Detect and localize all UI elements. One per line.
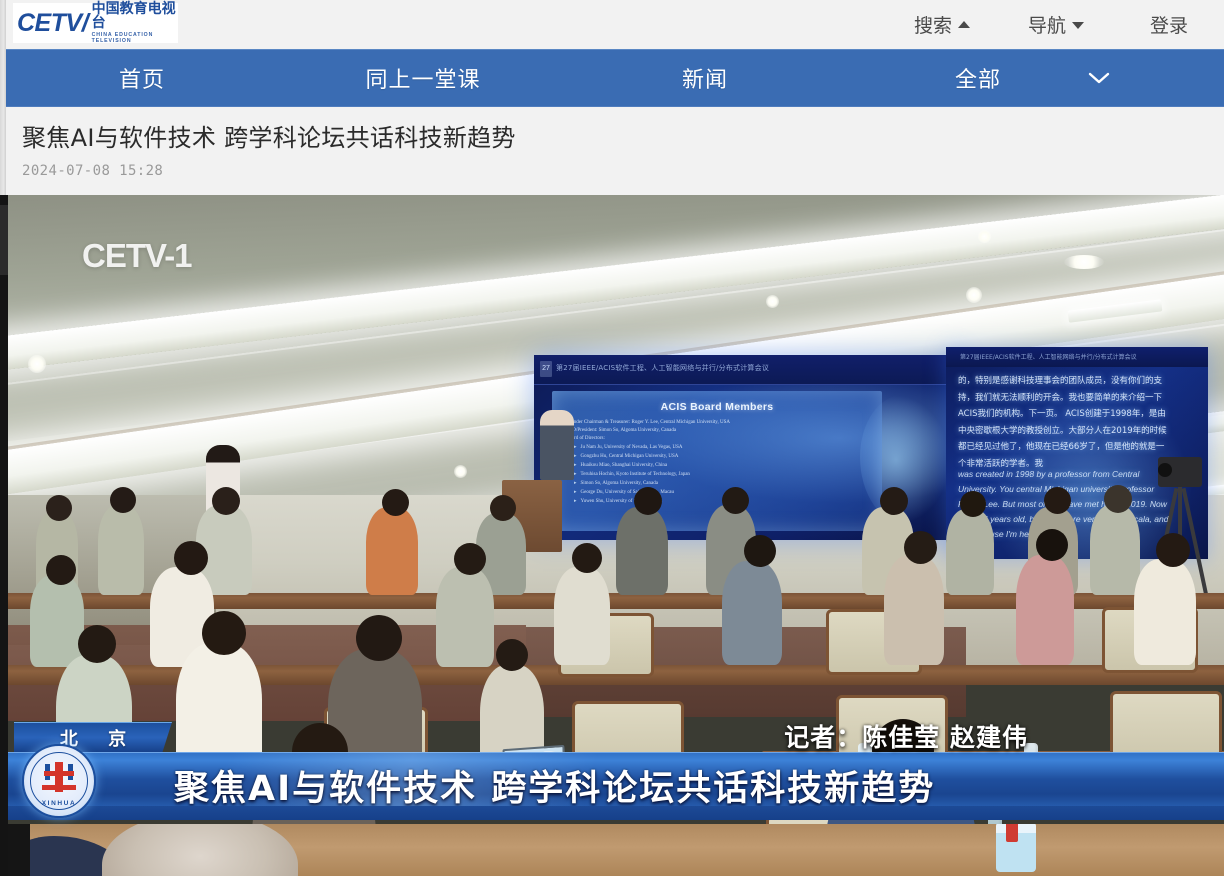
channel-watermark: CETV-1 (82, 237, 192, 275)
caret-up-icon (958, 21, 970, 28)
conference-banner-text: 第27届IEEE/ACIS软件工程、人工智能网络与并行/分布式计算会议 (556, 363, 952, 373)
nav-item-class[interactable]: 同上一堂课 (330, 50, 516, 106)
reporter-credit: 记者：陈佳莹 赵建伟 (784, 718, 1028, 754)
video-player[interactable]: CETV-1 27 第27届IEEE/ACIS软件工程、人工智能网络与并行/分布… (6, 195, 1224, 876)
header-nav-login-label: 登录 (1150, 11, 1188, 38)
slide-line: Teruhisa Hochin, Kyoto Institute of Tech… (574, 471, 882, 477)
slide-line: Founder Chairman & Treasurer: Roger Y. L… (566, 420, 882, 425)
nav-item-all[interactable]: 全部 (928, 50, 1028, 106)
header-nav-navigation[interactable]: 导航 (1028, 11, 1084, 38)
header-nav: 搜索 导航 登录 (914, 0, 1224, 48)
logo-english-name: CHINA EDUCATION TELEVISION (92, 32, 178, 44)
video-left-edge (0, 195, 8, 876)
lower-third-banner: 北 京 聚焦AI与软件技术 跨学科论坛共话科技新趋势 XINHUA (6, 746, 1224, 828)
chevron-down-icon[interactable] (1086, 50, 1112, 106)
page-root: CETV / 中国教育电视台 CHINA EDUCATION TELEVISIO… (0, 0, 1224, 876)
publish-timestamp: 2024-07-08 15:28 (22, 163, 1224, 179)
slide-line: Huaikou Miao, Shanghai University, China (574, 462, 882, 468)
logo-slash-icon: / (82, 9, 89, 38)
header-nav-search-label: 搜索 (914, 11, 952, 38)
xinhua-logo-icon: XINHUA (22, 744, 96, 818)
header-nav-search[interactable]: 搜索 (914, 11, 970, 38)
headline-bar: 聚焦AI与软件技术 跨学科论坛共话科技新趋势 (6, 752, 1224, 820)
broadcast-headline: 聚焦AI与软件技术 跨学科论坛共话科技新趋势 (174, 760, 935, 811)
nav-item-news[interactable]: 新闻 (655, 50, 755, 106)
slide-title: ACIS Board Members (552, 401, 882, 413)
page-title: 聚焦AI与软件技术 跨学科论坛共话科技新趋势 (22, 124, 1224, 153)
cetv-logo[interactable]: CETV / 中国教育电视台 CHINA EDUCATION TELEVISIO… (13, 3, 178, 43)
city-tag: 北 京 (14, 722, 172, 752)
slide-line: Ju Nam Ju, University of Nevada, Las Veg… (574, 444, 882, 450)
logo-chinese-name: 中国教育电视台 (92, 2, 178, 31)
header-nav-login[interactable]: 登录 (1150, 11, 1188, 38)
nav-item-home[interactable]: 首页 (92, 50, 192, 106)
slide-line: Board of Directors: (566, 436, 882, 441)
slide-line: Simon So, Algoma University, Canada (574, 480, 882, 486)
conference-banner-text-right: 第27届IEEE/ACIS软件工程、人工智能网络与并行/分布式计算会议 (960, 352, 1137, 361)
header-nav-navigation-label: 导航 (1028, 11, 1066, 38)
site-header: CETV / 中国教育电视台 CHINA EDUCATION TELEVISIO… (0, 0, 1224, 48)
video-frame: CETV-1 27 第27届IEEE/ACIS软件工程、人工智能网络与并行/分布… (6, 195, 1224, 876)
caption-chinese: 的，特别是感谢科技理事会的团队成员，没有你们的支持，我们就无法顺利的开会。我也要… (958, 373, 1168, 472)
slide-line: Gongzhu Hu, Central Michigan University,… (574, 453, 882, 459)
scene-foreground (6, 824, 1224, 876)
caret-down-icon (1072, 22, 1084, 29)
article-header: 聚焦AI与软件技术 跨学科论坛共话科技新趋势 2024-07-08 15:28 (0, 108, 1224, 195)
speaker-person (540, 410, 574, 480)
slide-line: CEO/President: Simon So, Algoma Universi… (566, 428, 882, 433)
conference-badge: 27 (540, 361, 552, 377)
primary-navbar: 首页 同上一堂课 新闻 全部 (0, 49, 1224, 107)
xinhua-logo-label: XINHUA (24, 800, 94, 807)
video-left-notch (0, 205, 8, 275)
logo-wordmark: CETV (17, 11, 82, 36)
